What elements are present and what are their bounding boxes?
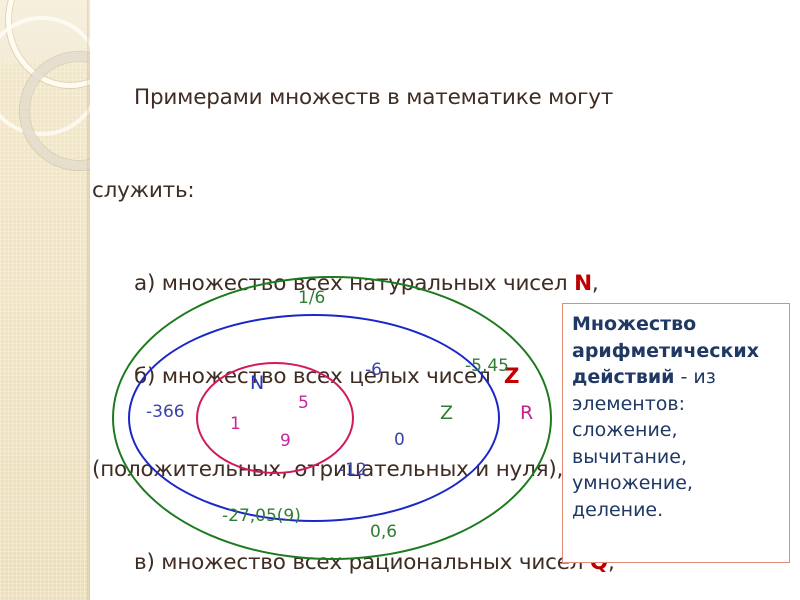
venn-member-r-06: 0,6: [370, 522, 397, 542]
venn-label-n: N: [250, 372, 264, 394]
prose-line-3-tail: ,: [592, 271, 599, 296]
prose-line-1: Примерами множеств в математике могут: [92, 82, 792, 113]
callout-bold-text: Множество арифметических действий: [572, 313, 759, 388]
decorative-sidebar: [0, 0, 90, 600]
venn-diagram: N Z R 1 5 9 -366 -6 0 -12 1/6 -5,45 -27,…: [100, 272, 560, 564]
venn-member-n-1: 1: [230, 414, 241, 434]
venn-member-z-6: -6: [365, 360, 382, 380]
venn-member-z-0: 0: [394, 430, 405, 450]
callout-dash: -: [674, 366, 693, 388]
venn-member-z-12: -12: [339, 460, 367, 480]
set-symbol-n: N: [574, 271, 592, 296]
venn-member-z-366: -366: [146, 402, 185, 422]
venn-member-r-27059: -27,05(9): [222, 506, 301, 526]
slide-canvas: Примерами множеств в математике могут сл…: [0, 0, 800, 600]
callout-box: Множество арифметических действий - из э…: [562, 303, 790, 563]
ellipse-natural-numbers: [196, 362, 354, 474]
sidebar-edge: [87, 0, 90, 600]
venn-member-n-5: 5: [298, 393, 309, 413]
venn-label-r: R: [520, 402, 533, 424]
venn-member-r-one-sixth: 1/6: [298, 288, 325, 308]
callout-rest-text: из элементов: сложение, вычитание, умнож…: [572, 366, 716, 521]
venn-member-r-545: -5,45: [465, 356, 509, 376]
prose-line-2: служить:: [92, 175, 792, 206]
venn-member-n-9: 9: [280, 431, 291, 451]
venn-label-z: Z: [440, 402, 453, 424]
